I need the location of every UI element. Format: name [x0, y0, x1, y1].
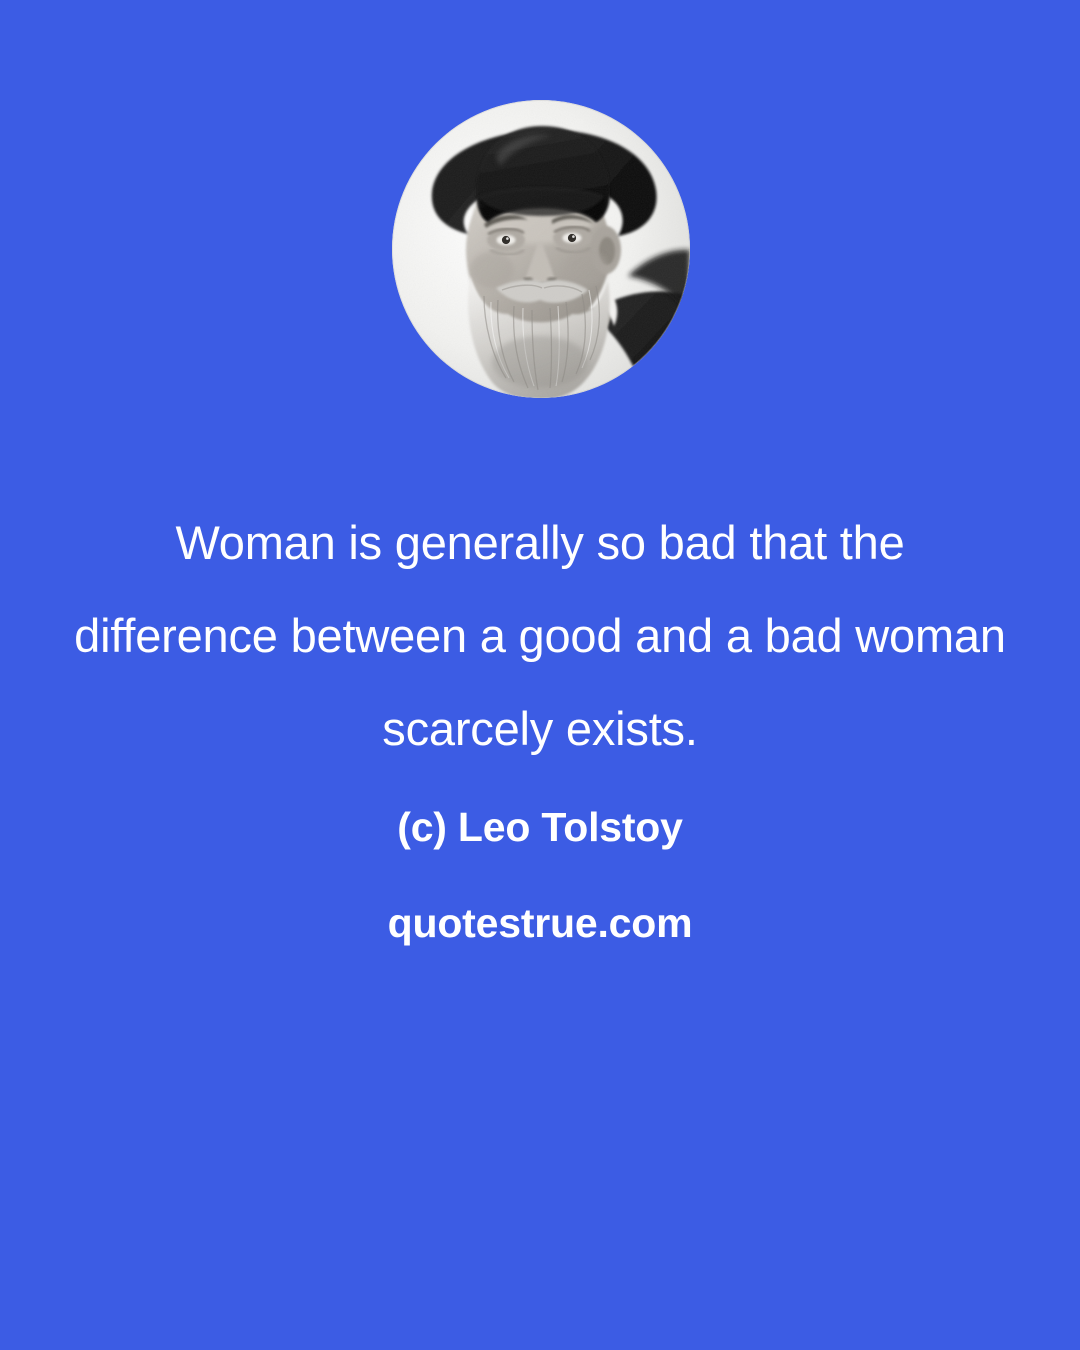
source-website: quotestrue.com	[0, 897, 1080, 949]
author-portrait-photo	[392, 100, 690, 398]
quote-text-block: Woman is generally so bad that the diffe…	[0, 496, 1080, 949]
quote-text: Woman is generally so bad that the diffe…	[0, 496, 1080, 775]
quote-attribution: (c) Leo Tolstoy	[0, 801, 1080, 853]
quote-card: Woman is generally so bad that the diffe…	[0, 0, 1080, 1350]
portrait-container	[392, 100, 690, 398]
